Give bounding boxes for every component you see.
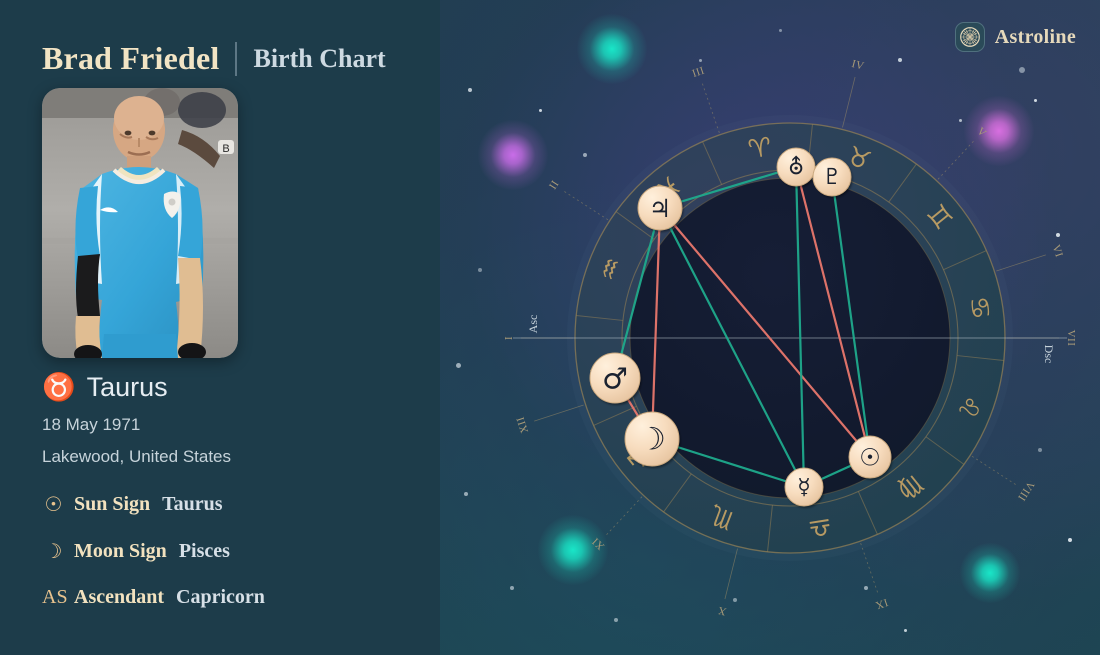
house-numeral-VIII: VIII bbox=[1015, 479, 1036, 503]
house-numeral-VI: VI bbox=[1050, 243, 1065, 259]
planet-glyph-mercury: ☿ bbox=[797, 475, 811, 500]
planet-glyph-jupiter: ♃ bbox=[649, 194, 671, 223]
planet-glyph-uranus: ⛢ bbox=[788, 155, 804, 180]
ascendant-label: Asc bbox=[526, 315, 540, 334]
attribute-label: Moon Sign bbox=[74, 540, 167, 563]
house-cusp-line bbox=[996, 255, 1045, 271]
page-header: Brad Friedel Birth Chart bbox=[42, 40, 386, 77]
zodiac-sign-libra[interactable]: ♎ bbox=[806, 511, 834, 544]
house-numeral-XI: XI bbox=[590, 535, 607, 552]
planet-glyph-sun: ☉ bbox=[859, 444, 881, 472]
brand-logo[interactable]: Astroline bbox=[955, 22, 1076, 52]
logo-label: Astroline bbox=[995, 26, 1076, 49]
house-numeral-V: V bbox=[974, 125, 988, 140]
taurus-icon: ♉ bbox=[42, 374, 76, 401]
house-numeral-X: X bbox=[716, 604, 727, 618]
house-numeral-IX: IX bbox=[874, 596, 890, 611]
astrolabe-icon bbox=[955, 22, 985, 52]
house-numeral-XII: XII bbox=[514, 415, 531, 435]
background-star bbox=[464, 492, 468, 496]
planet-glyph-pluto: ♇ bbox=[822, 165, 842, 190]
attribute-label: Ascendant bbox=[74, 586, 164, 609]
house-cusp-line bbox=[725, 549, 738, 599]
svg-text:B: B bbox=[222, 143, 229, 155]
house-numeral-II: II bbox=[547, 178, 562, 192]
house-numeral-III: III bbox=[691, 65, 707, 80]
house-cusp-line bbox=[861, 543, 878, 592]
birth-chart-wheel[interactable]: ♈♉♊♋♌♍♎♏♐♑♒♓IIIIIIIVVVIVIIVIIIIXXXIXIIAs… bbox=[480, 32, 1100, 632]
sun-icon: ☉ bbox=[42, 492, 65, 517]
sun-sign-name: Taurus bbox=[87, 372, 168, 403]
birth-place: Lakewood, United States bbox=[42, 447, 231, 467]
house-cusp-line bbox=[842, 77, 855, 127]
ascendant-icon: AS bbox=[42, 586, 65, 609]
descendant-label: Dsc bbox=[1042, 345, 1056, 364]
house-cusp-line bbox=[972, 456, 1016, 484]
house-numeral-IV: IV bbox=[850, 58, 865, 73]
planet-glyph-moon: ☽ bbox=[638, 422, 666, 458]
background-star bbox=[468, 88, 472, 92]
header-divider bbox=[235, 42, 237, 76]
attribute-ascendant: AS Ascendant Capricorn bbox=[42, 586, 265, 609]
attribute-label: Sun Sign bbox=[74, 493, 150, 516]
attribute-moon-sign: ☽ Moon Sign Pisces bbox=[42, 539, 265, 564]
attribute-value: Capricorn bbox=[176, 586, 265, 609]
attribute-sun-sign: ☉ Sun Sign Taurus bbox=[42, 492, 265, 517]
attributes-list: ☉ Sun Sign Taurus ☽ Moon Sign Pisces AS … bbox=[42, 492, 265, 631]
planet-glyph-mars: ♂ bbox=[602, 362, 628, 396]
zodiac-sign-cancer[interactable]: ♋ bbox=[963, 294, 996, 322]
profile-summary: ♉ Taurus 18 May 1971 Lakewood, United St… bbox=[42, 372, 231, 467]
sun-sign-headline: ♉ Taurus bbox=[42, 372, 231, 403]
zodiac-sign-aries[interactable]: ♈ bbox=[746, 132, 774, 165]
avatar: B bbox=[42, 88, 238, 358]
house-cusp-line bbox=[938, 141, 973, 179]
attribute-value: Pisces bbox=[179, 540, 230, 563]
house-cusp-line bbox=[702, 84, 719, 133]
page-subtitle: Birth Chart bbox=[253, 44, 385, 74]
house-cusp-line bbox=[607, 497, 642, 535]
house-cusp-line bbox=[534, 405, 583, 421]
attribute-value: Taurus bbox=[162, 493, 222, 516]
background-star bbox=[456, 363, 461, 368]
birth-date: 18 May 1971 bbox=[42, 415, 231, 435]
moon-icon: ☽ bbox=[42, 539, 65, 564]
house-cusp-line bbox=[564, 191, 608, 219]
page-title: Brad Friedel bbox=[42, 40, 219, 77]
